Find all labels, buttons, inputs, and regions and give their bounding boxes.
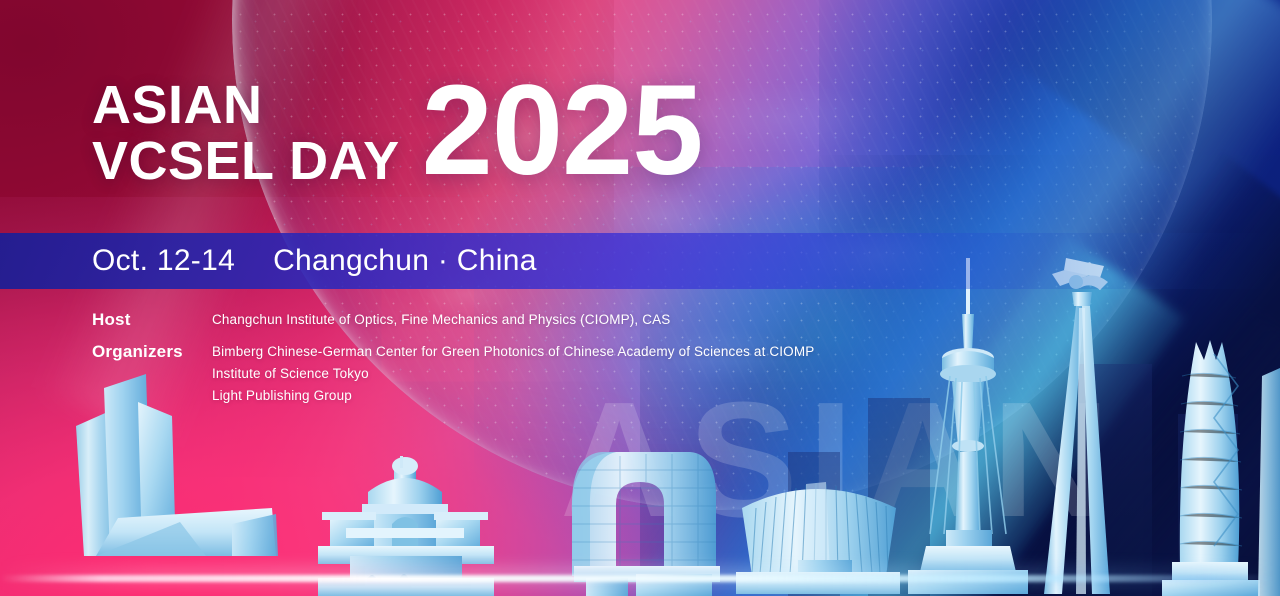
title-line-vcsel-day: VCSEL DAY [92,134,400,190]
credit-value: Changchun Institute of Optics, Fine Mech… [212,309,670,331]
credit-row-host: Host Changchun Institute of Optics, Fine… [92,308,814,332]
headline-block: ASIAN VCSEL DAY 2025 [92,68,702,193]
credit-label-organizers: Organizers [92,340,212,364]
ground-glow-line [0,575,1280,582]
credits-block: Host Changchun Institute of Optics, Fine… [92,308,814,407]
credit-values-organizers: Bimberg Chinese-German Center for Green … [212,340,814,407]
event-date: Oct. 12-14 [92,244,235,278]
credit-values-host: Changchun Institute of Optics, Fine Mech… [212,308,670,331]
credit-value: Institute of Science Tokyo [212,363,814,385]
event-location: Changchun · China [273,244,537,278]
credit-value: Bimberg Chinese-German Center for Green … [212,341,814,363]
credit-row-organizers: Organizers Bimberg Chinese-German Center… [92,340,814,407]
title-line-asian: ASIAN [92,78,400,134]
credit-value: Light Publishing Group [212,385,814,407]
date-location-band: Oct. 12-14 Changchun · China [0,233,1280,289]
conference-banner: ASIAN [0,0,1280,596]
year-text: 2025 [422,70,703,193]
headline-title: ASIAN VCSEL DAY [92,68,400,189]
credit-label-host: Host [92,308,212,332]
